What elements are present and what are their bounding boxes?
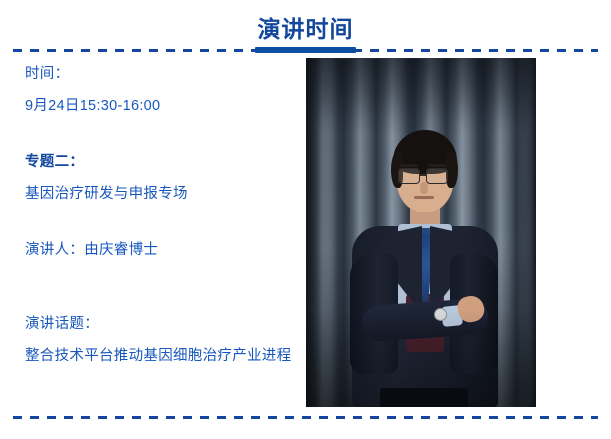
topic-value: 整合技术平台推动基因细胞治疗产业进程 — [25, 348, 300, 364]
nose — [420, 182, 428, 194]
spacer — [25, 258, 300, 316]
spacer — [25, 82, 300, 98]
eyebrow-left — [400, 164, 418, 167]
spacer — [25, 170, 300, 186]
divider-top-accent-bar — [255, 47, 356, 53]
eyebrow-right — [428, 164, 446, 167]
speaker-details: 时间： 9月24日15:30-16:00 专题二： 基因治疗研发与申报专场 演讲… — [25, 66, 300, 364]
time-label: 时间： — [25, 66, 300, 82]
divider-bottom-dashed — [13, 416, 598, 419]
glasses-lens-right — [426, 168, 448, 184]
time-value: 9月24日15:30-16:00 — [25, 98, 300, 114]
speaker-portrait-photo — [306, 58, 536, 407]
mouth — [414, 196, 434, 199]
spacer — [25, 114, 300, 154]
spacer — [25, 202, 300, 242]
portrait-subject — [306, 58, 536, 407]
speaker-info-card: 演讲时间 时间： 9月24日15:30-16:00 专题二： 基因治疗研发与申报… — [0, 0, 611, 439]
session-label: 专题二： — [25, 154, 300, 170]
session-value: 基因治疗研发与申报专场 — [25, 186, 300, 202]
trousers — [380, 388, 468, 407]
page-title-container: 演讲时间 — [0, 14, 611, 44]
page-title: 演讲时间 — [258, 14, 354, 44]
spacer — [25, 332, 300, 348]
topic-label: 演讲话题： — [25, 316, 300, 332]
glasses-lens-left — [398, 168, 420, 184]
glasses-bridge — [419, 174, 427, 176]
speaker-name: 演讲人：由庆睿博士 — [25, 242, 300, 258]
